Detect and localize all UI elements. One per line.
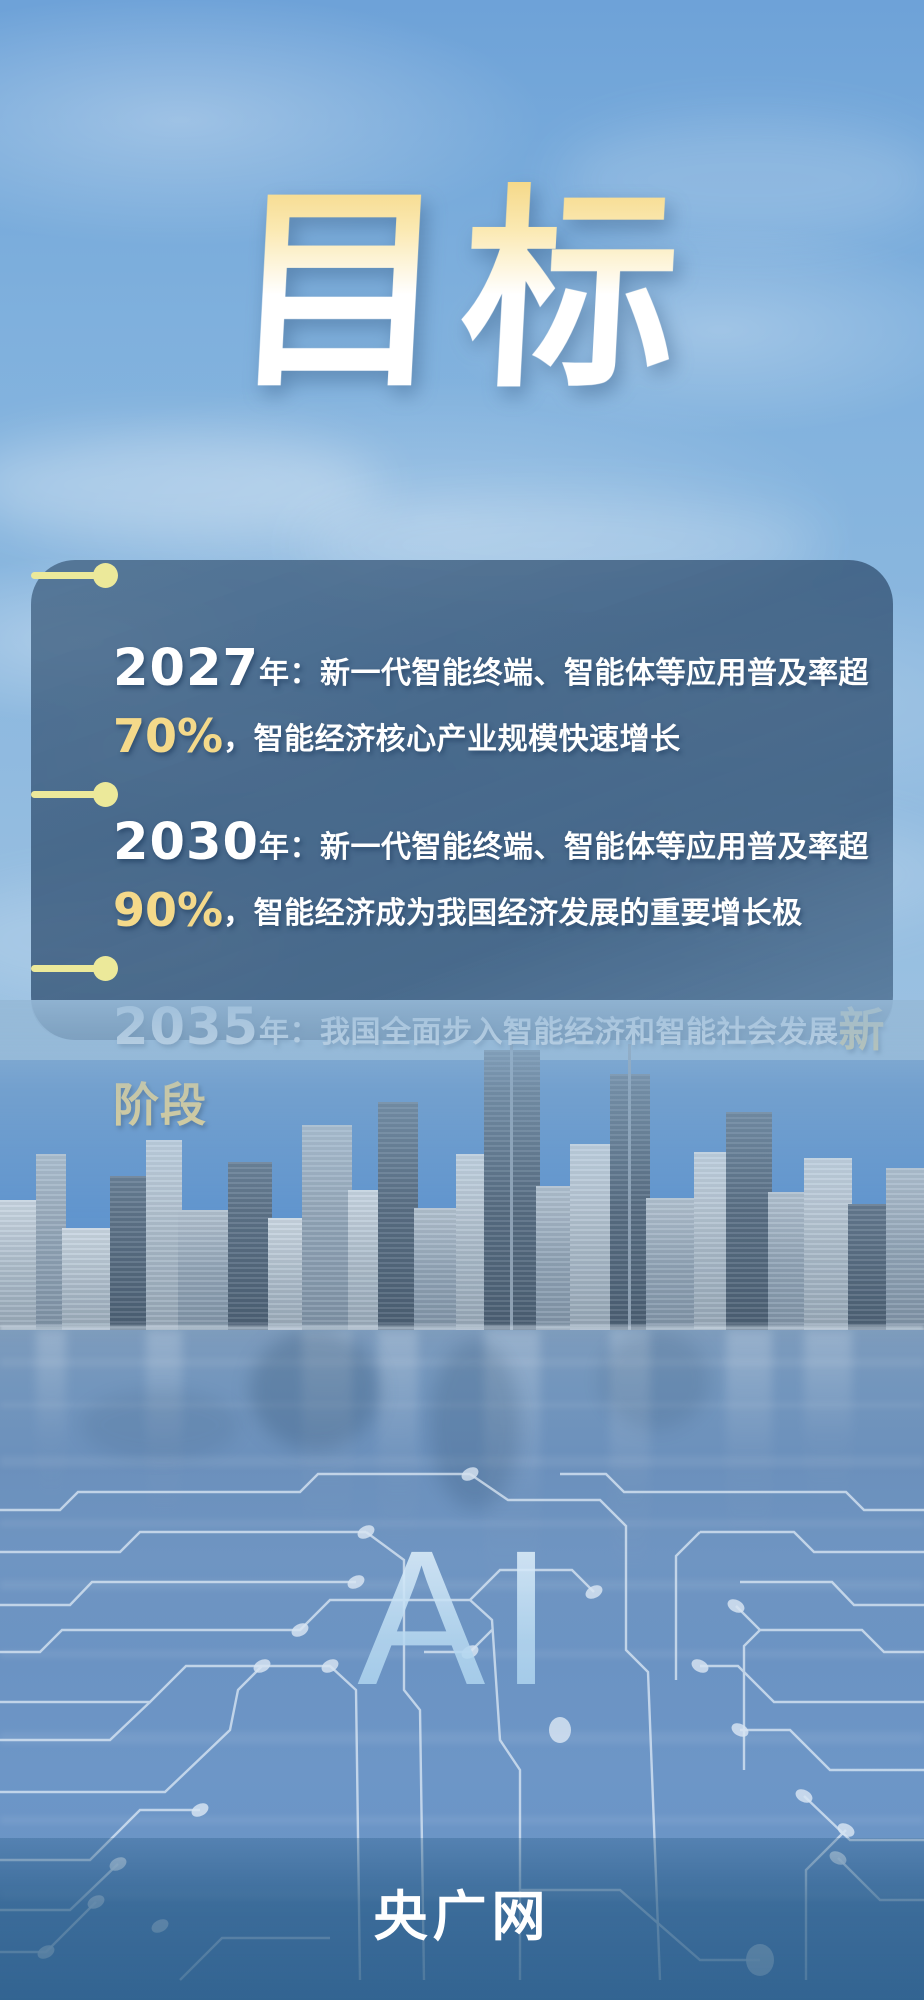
- goal-body: 年：新一代智能终端、智能体等应用普及率超: [259, 657, 869, 690]
- list-item: 2035年：我国全面步入智能经济和智能社会发展新阶段: [0, 953, 924, 1142]
- goal-body-tail: ，智能经济成为我国经济发展的重要增长极: [223, 897, 803, 930]
- goal-highlight-70: 70%: [113, 709, 223, 763]
- ai-watermark: AI: [0, 1522, 924, 1714]
- list-item: 2030年：新一代智能终端、智能体等应用普及率超90%，智能经济成为我国经济发展…: [0, 779, 924, 947]
- goal-highlight-90: 90%: [113, 883, 223, 937]
- goal-year-2027: 2027: [113, 639, 259, 698]
- goal-year-2035: 2035: [113, 998, 259, 1057]
- poster-root: 目标 2027年：新一代智能终端、智能体等应用普及率超70%，智能经济核心产业规…: [0, 0, 924, 2000]
- cnr-logo: 央广网: [0, 1872, 924, 1951]
- goal-text-2027: 2027年：新一代智能终端、智能体等应用普及率超70%，智能经济核心产业规模快速…: [0, 643, 924, 773]
- line-dot-marker-icon: [31, 560, 129, 590]
- goal-body-tail: ，智能经济核心产业规模快速增长: [223, 723, 681, 756]
- page-title: 目标: [0, 182, 924, 398]
- line-dot-marker-icon: [31, 779, 129, 809]
- goal-body: 年：新一代智能终端、智能体等应用普及率超: [259, 831, 869, 864]
- goal-body: 年：我国全面步入智能经济和智能社会发展: [259, 1016, 839, 1049]
- goals-list: 2027年：新一代智能终端、智能体等应用普及率超70%，智能经济核心产业规模快速…: [0, 560, 924, 1148]
- list-item: 2027年：新一代智能终端、智能体等应用普及率超70%，智能经济核心产业规模快速…: [0, 560, 924, 773]
- line-dot-marker-icon: [31, 953, 129, 983]
- goal-text-2035: 2035年：我国全面步入智能经济和智能社会发展新阶段: [0, 993, 924, 1142]
- goal-year-2030: 2030: [113, 813, 259, 872]
- goal-text-2030: 2030年：新一代智能终端、智能体等应用普及率超90%，智能经济成为我国经济发展…: [0, 817, 924, 947]
